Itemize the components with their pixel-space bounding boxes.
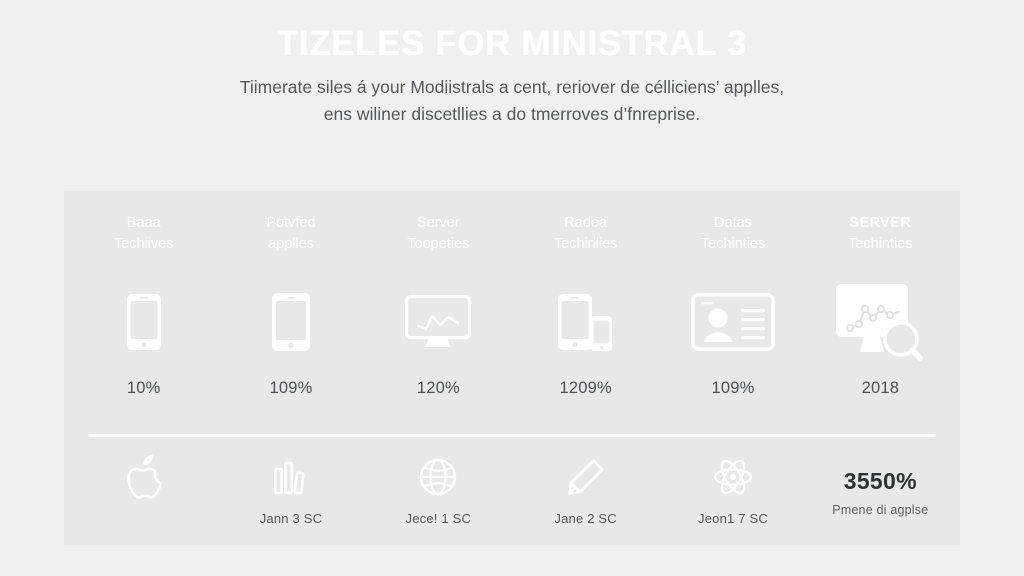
column-header-4: Radea Techinlies [554, 213, 618, 257]
column-header-6: SERVER Techinties [848, 213, 912, 257]
bottom-caption-3: Jece! 1 SC [406, 511, 472, 528]
column-header-5-line2: Techinties [701, 234, 765, 255]
column-header-5-line1: Datas [701, 213, 765, 234]
stats-column-6[interactable]: SERVER Techinties 2018 [807, 191, 954, 398]
column-header-2-line2: applles [266, 234, 315, 255]
column-value-1: 10% [127, 379, 161, 398]
highlight-stat-value: 3550% [844, 468, 917, 495]
monitor-chart-icon [405, 279, 471, 365]
pencil-icon [567, 449, 605, 505]
column-header-3: Server Toopeties [407, 213, 469, 257]
column-header-3-line2: Toopeties [407, 234, 469, 255]
bottom-item-3[interactable]: Jece! 1 SC [365, 449, 512, 528]
page-header: TIZELES FOR MINISTRAL 3 Tiimerate siles … [0, 0, 1024, 127]
highlight-stat-label: Pmene di agplse [832, 503, 928, 517]
page-title: TIZELES FOR MINISTRAL 3 [0, 24, 1024, 63]
column-value-5: 109% [711, 379, 754, 398]
bottom-caption-4: Jane 2 SC [554, 511, 617, 528]
column-header-4-line2: Techinlies [554, 234, 618, 255]
highlight-stat-block[interactable]: 3550% Pmene di agplse [807, 449, 954, 528]
stats-column-1[interactable]: Baaa Techiives 10% [70, 191, 217, 398]
column-header-1: Baaa Techiives [114, 213, 174, 257]
page-subtitle-line-2: ens wiliner discetllies a do tmerroves d… [132, 101, 892, 128]
column-header-4-line1: Radea [554, 213, 618, 234]
column-header-2: Potvfed applles [266, 213, 315, 257]
column-header-3-line1: Server [407, 213, 469, 234]
stats-panel: Baaa Techiives 10% Potvfed applles [64, 191, 960, 545]
column-value-2: 109% [269, 379, 312, 398]
globe-icon [419, 449, 457, 505]
page-subtitle-line-1: Tiimerate siles á your Modiistrals a cen… [132, 74, 892, 101]
stats-bottom-row: Jann 3 SC Jece! 1 SC [64, 449, 960, 528]
column-header-6-line2: Techinties [848, 234, 912, 255]
page-subtitle: Tiimerate siles á your Modiistrals a cen… [132, 74, 892, 127]
stats-column-4[interactable]: Radea Techinlies 1209% [512, 191, 659, 398]
stats-column-3[interactable]: Server Toopeties 120% [365, 191, 512, 398]
column-value-6: 2018 [862, 379, 900, 398]
apple-logo-icon [124, 449, 164, 505]
smartphone-icon [127, 279, 161, 365]
column-header-1-line1: Baaa [114, 213, 174, 234]
bottom-item-4[interactable]: Jane 2 SC [512, 449, 659, 528]
bottom-caption-5: Jeon1 7 SC [698, 511, 768, 528]
id-card-icon [691, 279, 775, 365]
bottom-item-1[interactable] [70, 449, 217, 528]
multi-device-icon [558, 279, 614, 365]
stats-column-2[interactable]: Potvfed applles 109% [217, 191, 364, 398]
column-header-2-line1: Potvfed [266, 213, 315, 234]
monitor-search-icon [834, 279, 926, 365]
tablet-icon [272, 279, 310, 365]
bottom-item-5[interactable]: Jeon1 7 SC [659, 449, 806, 528]
stats-column-5[interactable]: Datas Techinties 109% [659, 191, 806, 398]
bottom-item-2[interactable]: Jann 3 SC [217, 449, 364, 528]
atom-icon [713, 449, 753, 505]
column-header-5: Datas Techinties [701, 213, 765, 257]
column-value-3: 120% [417, 379, 460, 398]
bar-chart-icon [274, 449, 308, 505]
column-value-4: 1209% [559, 379, 611, 398]
column-header-6-line1: SERVER [848, 213, 912, 234]
column-header-1-line2: Techiives [114, 234, 174, 255]
bottom-caption-2: Jann 3 SC [260, 511, 323, 528]
stats-top-row: Baaa Techiives 10% Potvfed applles [64, 191, 960, 398]
section-divider [88, 434, 936, 437]
